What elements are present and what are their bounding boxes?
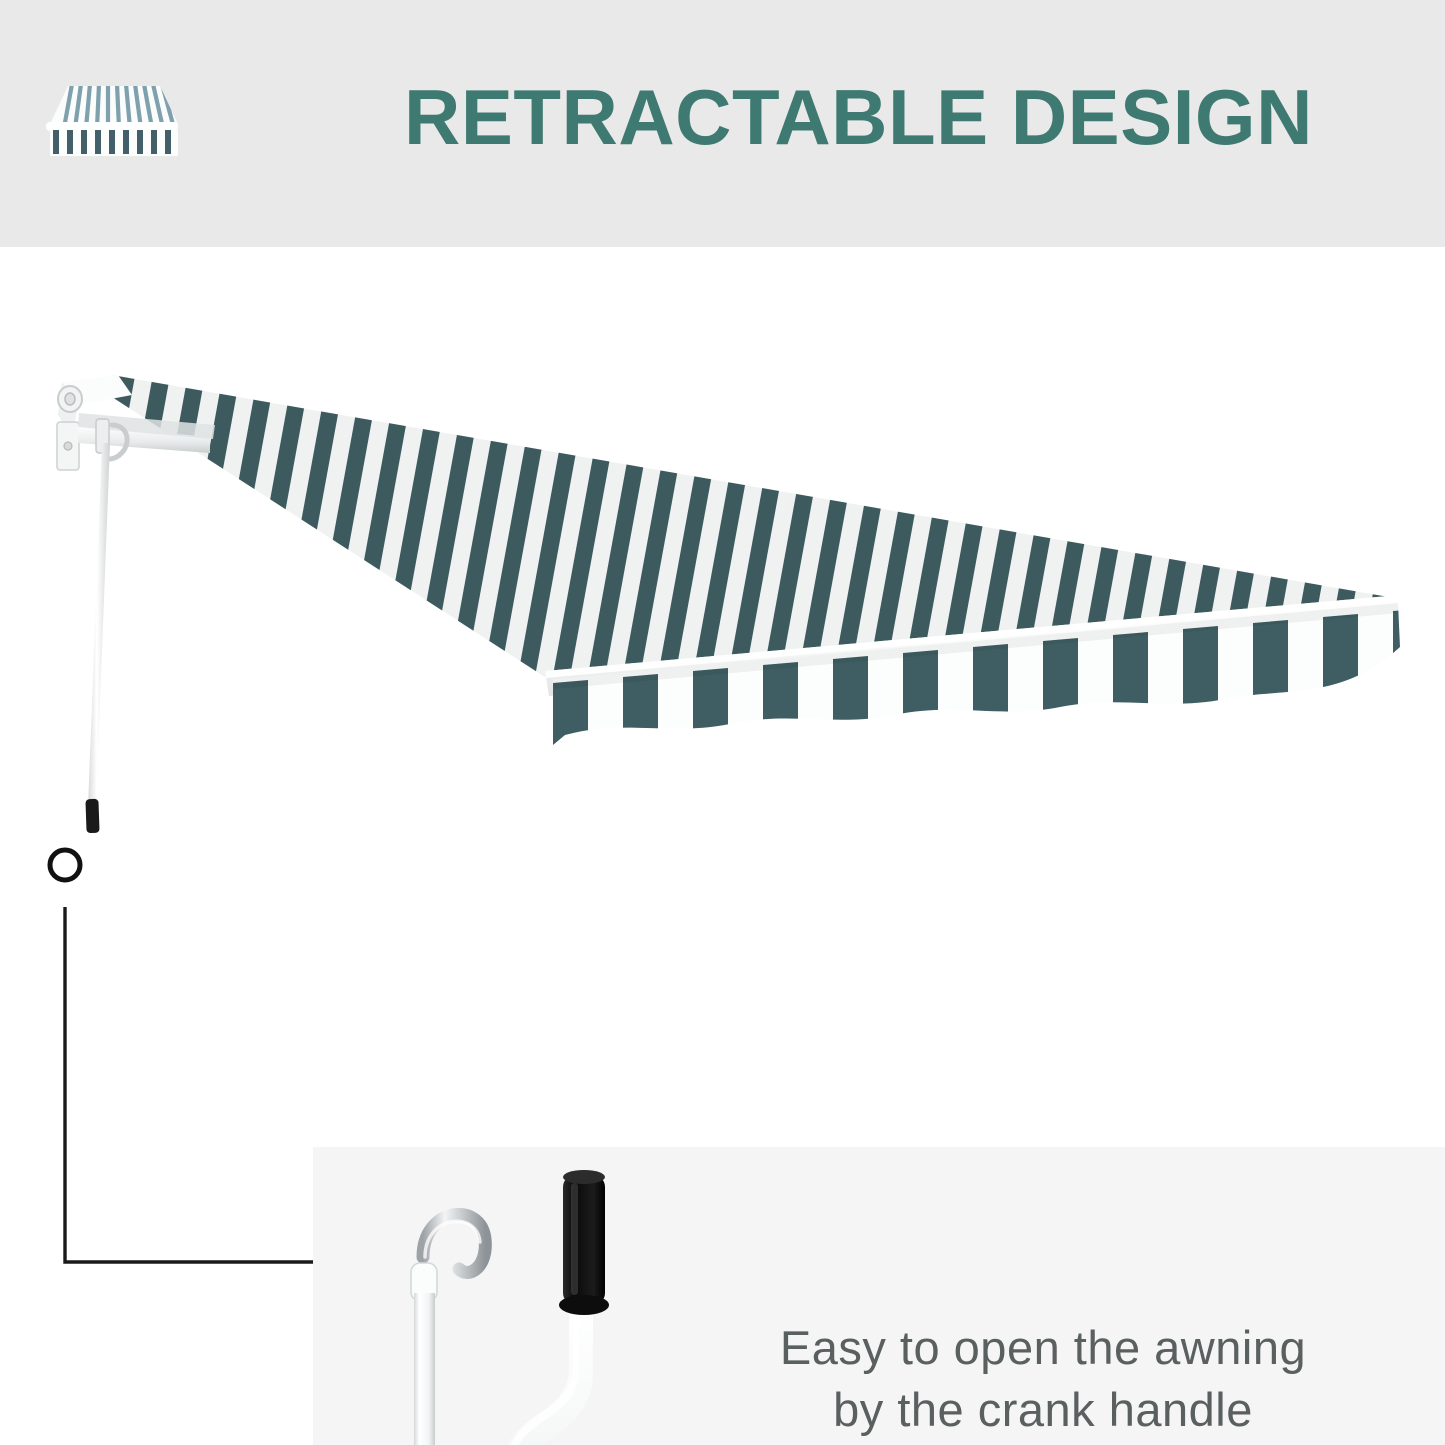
product-feature-image: RETRACTABLE DESIGN [0,0,1445,1445]
awning-icon-svg [42,78,178,160]
awning-icon [42,78,178,160]
crank-handle-illustration [373,1157,713,1445]
crank-handle-svg [373,1157,713,1445]
awning-svg [0,247,1445,947]
crank-shaft-left [414,1293,435,1445]
caption-block: Easy to open the awning by the crank han… [693,1317,1393,1445]
crank-grip-upper [559,1170,609,1315]
crank-rod-icon [85,443,110,833]
inset-panel: Easy to open the awning by the crank han… [313,1147,1445,1445]
main-stage: Easy to open the awning by the crank han… [0,247,1445,1445]
header-band: RETRACTABLE DESIGN [0,0,1445,247]
page-title: RETRACTABLE DESIGN [404,58,1414,178]
caption-line-1: Easy to open the awning [693,1317,1393,1379]
caption-line-2: by the crank handle [693,1379,1393,1441]
retractable-awning-illustration [0,247,1445,947]
callout-path [65,907,313,1262]
